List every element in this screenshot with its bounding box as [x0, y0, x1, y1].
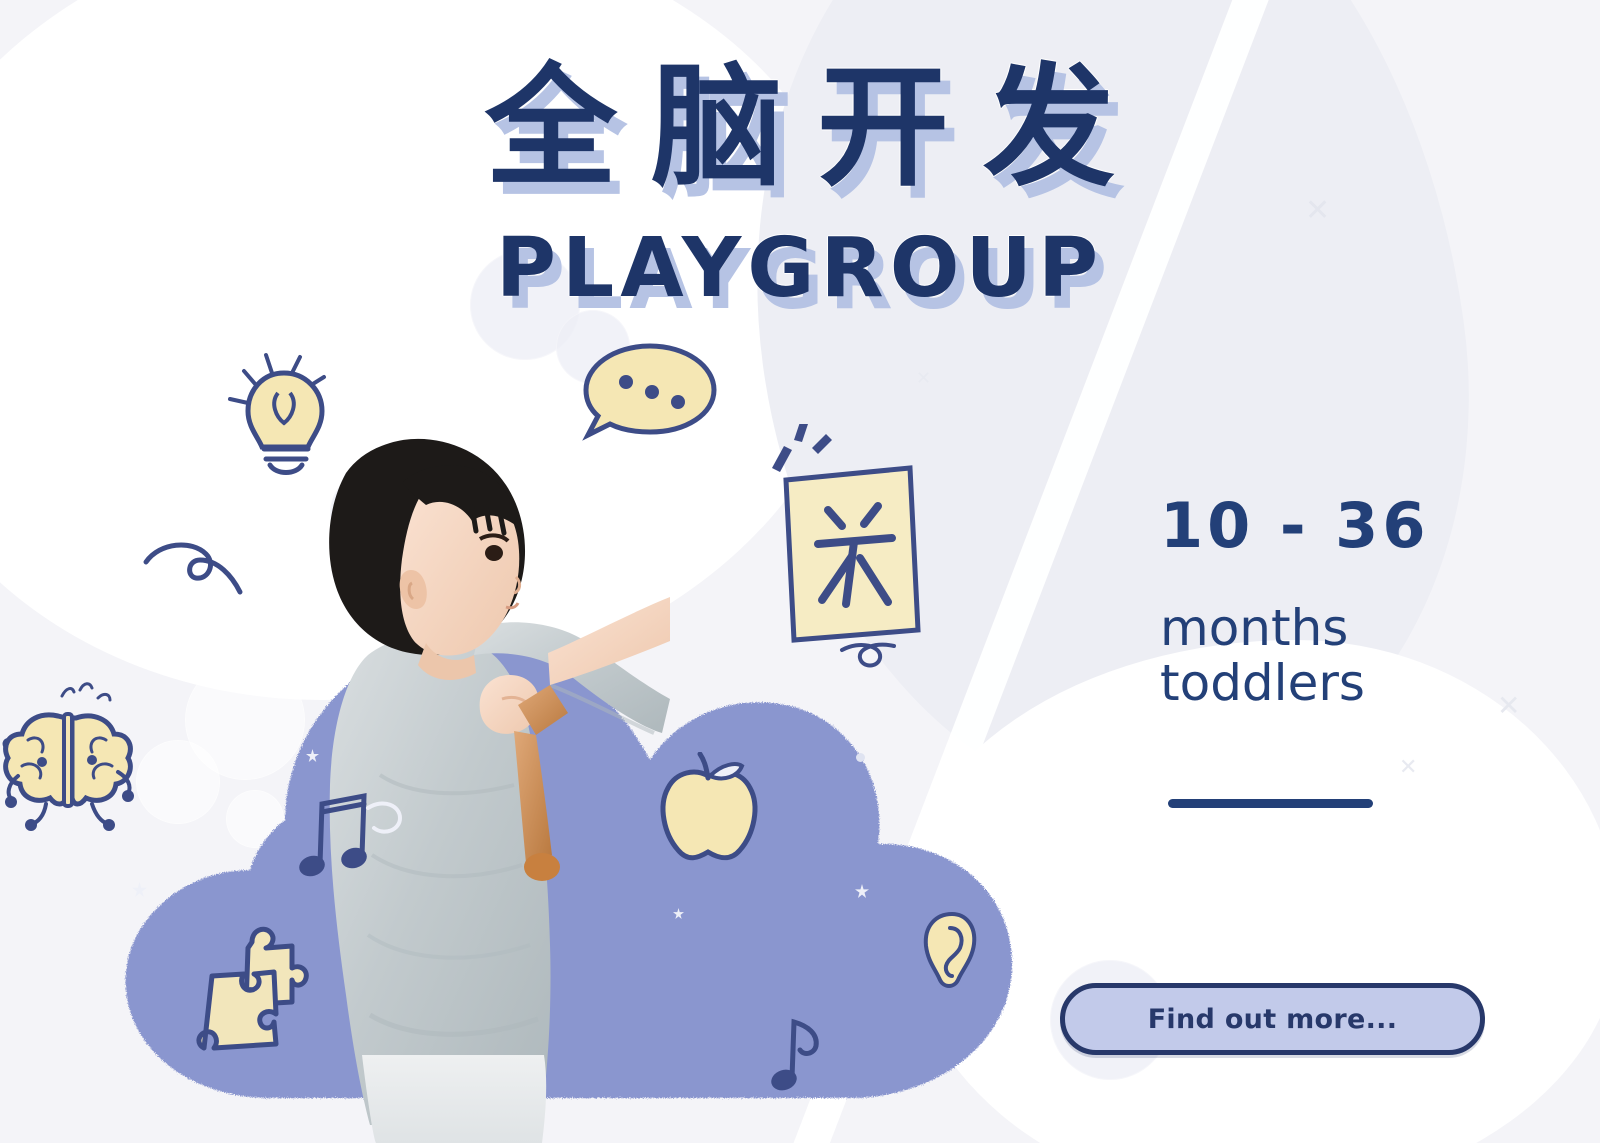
squiggle-icon [140, 538, 270, 608]
sparkle-icon: ✕ [1497, 692, 1520, 720]
bokeh-circle [136, 740, 220, 824]
age-range-text: 10 - 36 [1160, 495, 1480, 557]
sparkle-icon: ✕ [916, 370, 931, 388]
music-note-icon [296, 788, 406, 884]
music-note-single-icon [770, 1012, 836, 1092]
lightbulb-icon [222, 345, 347, 485]
star-icon [856, 753, 865, 762]
speech-bubble-icon [578, 336, 728, 454]
apple-icon [650, 752, 770, 874]
page-title-en: PLAYGROUP [370, 228, 1230, 310]
background-blob-white-lower [900, 640, 1600, 1143]
puzzle-icon [196, 920, 326, 1056]
star-icon [132, 882, 147, 897]
star-icon [855, 884, 869, 898]
sparkle-icon: ✕ [1305, 196, 1330, 226]
age-unit-text: months [1160, 600, 1490, 656]
page-title-cn: 全脑开发 [370, 46, 1230, 211]
star-icon [673, 908, 684, 919]
ear-icon [918, 908, 980, 992]
brain-icon [0, 672, 146, 832]
divider-rule [1168, 799, 1373, 808]
find-out-more-button[interactable]: Find out more... [1060, 983, 1485, 1055]
flashcard-icon [742, 424, 932, 674]
sparkle-icon: ✕ [1399, 757, 1417, 779]
age-audience-text: toddlers [1160, 655, 1490, 711]
poster-canvas: ✕ ✕ ✕ ✕ [0, 0, 1600, 1143]
